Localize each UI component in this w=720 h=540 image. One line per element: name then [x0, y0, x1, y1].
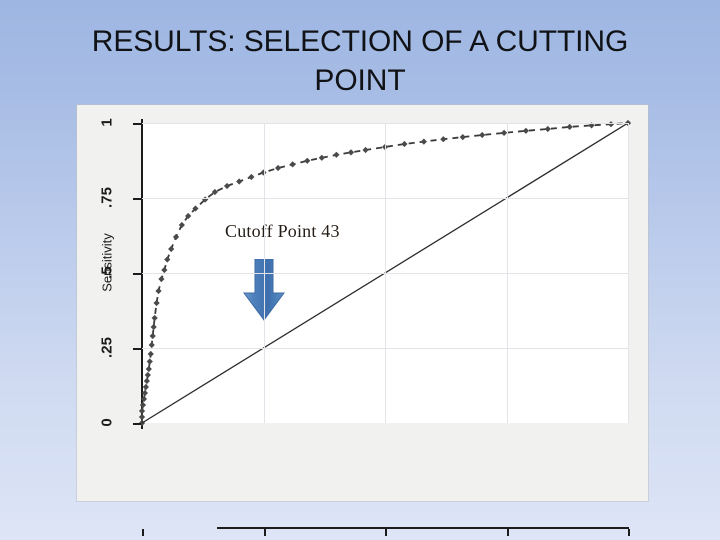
- roc-data-point: [173, 234, 179, 240]
- roc-data-point: [290, 161, 296, 167]
- gridline-horizontal: [142, 273, 628, 274]
- roc-data-point: [147, 358, 153, 364]
- roc-data-point: [148, 351, 154, 357]
- gridline-horizontal: [142, 123, 628, 124]
- y-axis-tick: [133, 273, 141, 275]
- y-axis-tick-label: .75: [99, 178, 116, 218]
- roc-data-point: [304, 158, 310, 164]
- roc-data-point: [401, 141, 407, 147]
- roc-data-point: [236, 178, 242, 184]
- roc-data-point: [224, 183, 230, 189]
- y-axis-tick-label: .5: [99, 253, 116, 293]
- y-axis-tick: [133, 348, 141, 350]
- page-title: RESULTS: SELECTION OF A CUTTING POINT: [40, 22, 680, 100]
- roc-data-point: [139, 414, 145, 420]
- gridline-horizontal: [142, 348, 628, 349]
- roc-data-point: [168, 246, 174, 252]
- roc-data-point: [362, 147, 368, 153]
- roc-data-point: [144, 378, 150, 384]
- roc-data-point: [146, 366, 152, 372]
- y-axis-tick: [133, 123, 141, 125]
- roc-data-point: [567, 124, 573, 130]
- roc-data-point: [140, 402, 146, 408]
- roc-data-point: [248, 174, 254, 180]
- roc-data-point: [151, 324, 157, 330]
- x-axis-tick: [507, 529, 509, 536]
- roc-data-point: [440, 136, 446, 142]
- gridline-vertical: [628, 123, 629, 423]
- roc-data-point: [143, 384, 149, 390]
- roc-data-point: [333, 152, 339, 158]
- figure-plate: Sensitivity 1 - Specificity Cutoff Point…: [77, 105, 648, 501]
- x-axis-tick: [142, 529, 144, 536]
- roc-data-point: [348, 149, 354, 155]
- roc-data-point: [421, 139, 427, 145]
- roc-data-point: [545, 126, 551, 132]
- roc-data-point: [152, 315, 158, 321]
- roc-data-point: [141, 396, 147, 402]
- x-axis-tick: [628, 529, 630, 536]
- slide: RESULTS: SELECTION OF A CUTTING POINT Se…: [0, 0, 720, 540]
- roc-data-point: [153, 300, 159, 306]
- roc-data-point: [145, 372, 151, 378]
- figure-inner: Sensitivity 1 - Specificity Cutoff Point…: [77, 105, 648, 501]
- roc-data-point: [460, 134, 466, 140]
- y-axis-tick-label: 1: [99, 103, 116, 143]
- roc-chart: [77, 105, 648, 501]
- roc-data-point: [142, 390, 148, 396]
- roc-data-point: [150, 333, 156, 339]
- roc-data-point: [158, 276, 164, 282]
- x-axis-spine: [217, 527, 629, 529]
- y-axis-tick: [133, 198, 141, 200]
- roc-data-point: [139, 408, 145, 414]
- y-axis-tick-label: 0: [99, 403, 116, 443]
- x-axis-tick: [385, 529, 387, 536]
- roc-data-point: [155, 288, 161, 294]
- roc-data-point: [479, 132, 485, 138]
- y-axis-tick-label: .25: [99, 328, 116, 368]
- roc-data-point: [319, 155, 325, 161]
- gridline-horizontal: [142, 198, 628, 199]
- roc-data-point: [179, 222, 185, 228]
- x-axis-tick: [264, 529, 266, 536]
- roc-data-point: [164, 256, 170, 262]
- y-axis-tick: [133, 423, 141, 425]
- roc-data-point: [275, 165, 281, 171]
- roc-data-point: [523, 128, 529, 134]
- cutoff-annotation-label: Cutoff Point 43: [225, 221, 340, 242]
